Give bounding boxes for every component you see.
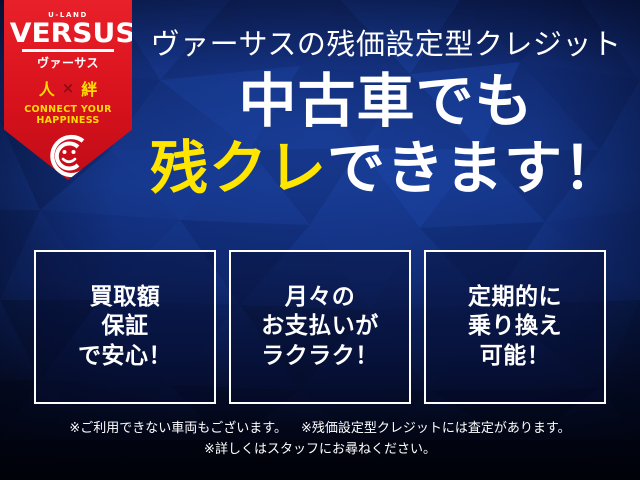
headline-block: ヴァーサスの残価設定型クレジット 中古車でも 残クレできます！ (132, 0, 640, 250)
feature-line: お支払いが (261, 312, 379, 341)
feature-line: で安心！ (78, 342, 172, 371)
logo-slogan-right: 絆 (81, 76, 97, 100)
logo-slogan-left: 人 (39, 76, 55, 100)
feature-line: 保証 (102, 312, 149, 341)
feature-line: 乗り換え (468, 312, 562, 341)
logo-tagline-line1: CONNECT YOUR (4, 104, 132, 116)
disclaimer-block: ※ご利用できない車両もございます。※残価設定型クレジットには査定があります。 ※… (0, 418, 640, 461)
subhead-text: ヴァーサスの残価設定型クレジット (132, 30, 640, 59)
feature-line: 可能！ (480, 342, 551, 371)
multiply-icon: × (62, 79, 75, 97)
logo-versus-wrap: VERSUS (4, 20, 132, 52)
logo-versus-text: VERSUS (10, 20, 126, 48)
logo-tagline: CONNECT YOUR HAPPINESS (4, 104, 132, 127)
headline-line-1: 中古車でも (132, 72, 640, 130)
promo-banner: U-LAND VERSUS ヴァーサス 人 × 絆 CONNECT YOUR H… (0, 0, 640, 480)
headline-rest: できます！ (327, 134, 622, 202)
feature-box-easy-monthly-payment: 月々の お支払いが ラクラク！ (229, 250, 411, 404)
disclaimer-line-2: ※詳しくはスタッフにお尋ねください。 (0, 439, 640, 460)
feature-box-buyback-guarantee: 買取額 保証 で安心！ (34, 250, 216, 404)
logo-tagline-line2: HAPPINESS (4, 115, 132, 127)
feature-line: 定期的に (468, 283, 562, 312)
feature-line: 買取額 (90, 283, 161, 312)
feature-line: ラクラク！ (261, 342, 379, 371)
disclaimer-note-2: ※残価設定型クレジットには査定があります。 (301, 421, 571, 436)
feature-box-periodic-trade-in: 定期的に 乗り換え 可能！ (424, 250, 606, 404)
headline-line-2: 残クレできます！ (132, 139, 640, 197)
feature-box-group: 買取額 保証 で安心！ 月々の お支払いが ラクラク！ 定期的に 乗り換え 可能… (34, 250, 606, 404)
feature-line: 月々の (285, 283, 356, 312)
disclaimer-line-1: ※ご利用できない車両もございます。※残価設定型クレジットには査定があります。 (0, 418, 640, 439)
disclaimer-note-1: ※ご利用できない車両もございます。 (69, 421, 287, 436)
headline-highlight: 残クレ (150, 134, 327, 202)
logo-slogan: 人 × 絆 (4, 76, 132, 100)
logo-versus-kana: ヴァーサス (4, 54, 132, 71)
